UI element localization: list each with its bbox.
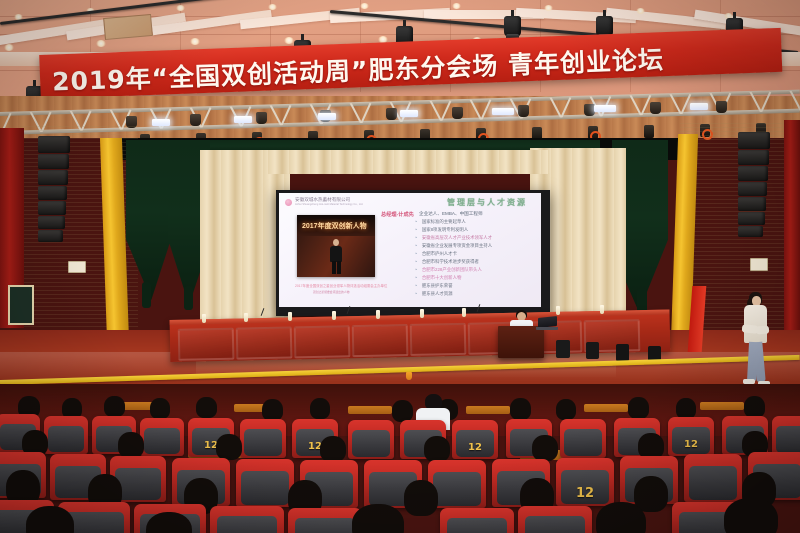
slide-bullet-text: 企业达人、EMBA、中国工程师: [419, 211, 483, 216]
bullet-marker-icon: ‣: [415, 243, 418, 249]
stage-monitor-speaker: [556, 340, 570, 358]
slide-video-headline: 2017年度双创新人物: [302, 221, 367, 231]
audience-person: [118, 432, 144, 458]
company-logo-subtext: Anhui Shuangcheng Hot-melt Material Tech…: [295, 203, 363, 206]
water-bottle: [556, 306, 560, 315]
audience-person: [104, 396, 125, 417]
slide-bullet-text: 肥东县人才资源: [422, 291, 453, 296]
projection-screen: 安徽双城水热蓄材有限公司 Anhui Shuangcheng Hot-melt …: [279, 193, 541, 307]
seat-number: 12: [556, 486, 614, 501]
slide-bullet: ‣ 国家标准的主要起草人: [415, 219, 466, 225]
auditorium-seat[interactable]: 12: [452, 420, 498, 459]
lectern: [498, 326, 544, 358]
auditorium-seat[interactable]: [210, 506, 284, 533]
audience-person: [510, 398, 531, 420]
seat-number: 12: [668, 439, 714, 450]
slide-video-caption: 2017年度全国双创之星创业领军人物评选活动组委会主办单位: [295, 283, 387, 288]
slide-bullet: ‣ 合肥市228产业创新团队带头人: [415, 267, 482, 273]
slide-bullet-text: 合肥市科学技术进步奖获得者: [422, 259, 479, 264]
left-wall-plate: [68, 261, 86, 273]
water-bottle: [420, 309, 424, 318]
slide-bullet-text: 安徽省企业发展专项资金项目主持人: [422, 243, 492, 248]
auditorium-seat[interactable]: [44, 416, 88, 454]
audience-person-foreground: [26, 506, 74, 533]
audience-person: [196, 397, 217, 418]
audience-person: [532, 435, 558, 461]
audience-person: [310, 398, 330, 419]
seat-number: 12: [452, 442, 498, 453]
auditorium-seat[interactable]: 12: [556, 458, 614, 506]
laptop: [536, 317, 558, 330]
audience-person-foreground: [352, 504, 404, 533]
audience-person-foreground: [596, 502, 646, 533]
slide-bullet: ‣ 肥东县护东荣誉: [415, 283, 453, 289]
audience-desk: [466, 406, 510, 414]
slide-bullet-text: 合肥市228产业创新团队带头人: [422, 267, 482, 272]
left-green-curtain-tie-2: [184, 286, 193, 310]
led-bar-light: [400, 110, 418, 117]
led-bar-light: [690, 103, 708, 110]
audience-person-foreground: [146, 512, 192, 533]
orange-cup: [406, 372, 412, 380]
slide-bullet: 企业达人、EMBA、中国工程师: [419, 211, 483, 217]
bullet-marker-icon: ‣: [415, 219, 418, 225]
bullet-marker-icon: ‣: [415, 267, 418, 273]
audience-person: [150, 398, 170, 419]
bullet-marker-icon: ‣: [415, 235, 418, 241]
slide-bullet-text: 安徽省高层次人才产业技术领军人才: [422, 235, 492, 240]
slide-bullet-text: 国家标准的主要起草人: [422, 219, 466, 224]
auditorium-seat[interactable]: [140, 418, 184, 456]
audience-person: [262, 399, 283, 421]
auditorium-seat[interactable]: 12: [668, 417, 714, 456]
bullet-marker-icon: ‣: [415, 291, 418, 297]
right-line-array-speaker: [738, 132, 770, 236]
auditorium-seat[interactable]: [684, 454, 742, 502]
slide-bullet-text: 合肥市十大创新人物: [422, 275, 462, 280]
audience-person: [628, 397, 649, 419]
bullet-marker-icon: ‣: [415, 259, 418, 265]
water-bottle: [376, 310, 380, 319]
led-bar-light: [152, 119, 170, 126]
projection-screen-frame: 安徽双城水热蓄材有限公司 Anhui Shuangcheng Hot-melt …: [276, 190, 550, 316]
slide-bullet: ‣ 合肥市十大创新人物: [415, 275, 461, 281]
audience-person: [424, 436, 450, 462]
bullet-marker-icon: ‣: [415, 251, 418, 257]
slide-video-person: [329, 239, 343, 275]
audience-person: [320, 436, 346, 462]
audience-person: [556, 399, 576, 420]
bullet-marker-icon: ‣: [415, 227, 418, 233]
audience-desk: [584, 404, 628, 412]
water-bottle: [332, 311, 336, 320]
right-red-curtain: [784, 120, 800, 330]
stage-monitor-speaker: [616, 344, 629, 361]
audience-desk: [348, 406, 392, 414]
slide-bullet: ‣ 国家8项发明专利发明人: [415, 227, 468, 233]
slide-bullet: ‣ 肥东县人才资源: [415, 291, 453, 297]
slide-bullet-text: 肥东县护东荣誉: [422, 283, 453, 288]
led-bar-light: [594, 105, 616, 112]
led-bar-light: [492, 108, 514, 115]
slide-bullet: ‣ 合肥市庐州人才卡: [415, 251, 457, 257]
auditorium-seat[interactable]: [236, 459, 294, 507]
slide-video-caption-2: 双创之星组委会评选出的人物: [313, 290, 349, 294]
left-wall-window: [8, 285, 34, 325]
auditorium-seat[interactable]: [348, 420, 394, 459]
slide-bullet: ‣ 安徽省高层次人才产业技术领军人才: [415, 235, 492, 241]
bullet-marker-icon: ‣: [415, 275, 418, 281]
slide-video: 2017年度双创新人物: [297, 215, 375, 277]
water-bottle: [462, 308, 466, 317]
right-wall-plate: [750, 258, 768, 271]
auditorium-seat[interactable]: [440, 508, 514, 533]
bullet-marker-icon: ‣: [415, 283, 418, 289]
ceiling-vent: [103, 14, 153, 40]
slide-bullet: ‣ 合肥市科学技术进步奖获得者: [415, 259, 479, 265]
auditorium-seat[interactable]: [518, 506, 592, 533]
audience-person: [404, 480, 438, 516]
auditorium-photo: 2019年“全国双创活动周”肥东分会场 青年创业论坛: [0, 0, 800, 533]
slide-bullet-text: 合肥市庐州人才卡: [422, 251, 457, 256]
auditorium-seat[interactable]: [288, 508, 362, 533]
audience-person: [216, 434, 242, 460]
slide-title: 管理层与人才资源: [447, 197, 527, 208]
center-top-curtain: [268, 150, 548, 174]
left-green-curtain-tie: [142, 282, 151, 308]
led-bar-light: [318, 113, 336, 120]
audience-person: [744, 396, 765, 418]
audience-person: [676, 398, 696, 419]
walking-woman: [740, 292, 770, 388]
audience-person-foreground: [724, 498, 778, 533]
water-bottle: [288, 312, 292, 321]
auditorium-seat[interactable]: [772, 416, 800, 455]
stage-monitor-speaker: [586, 342, 599, 359]
water-bottle: [244, 313, 248, 322]
led-bar-light: [234, 116, 252, 123]
audience-desk: [700, 402, 744, 410]
left-line-array-speaker: [38, 136, 70, 242]
auditorium-seat[interactable]: [240, 419, 286, 458]
water-bottle: [600, 305, 604, 314]
slide-bullet: ‣ 安徽省企业发展专项资金项目主持人: [415, 243, 492, 249]
slide-section-heading: 总经理-计成先: [381, 211, 414, 218]
water-bottle: [202, 314, 206, 323]
company-logo-mark: [285, 199, 292, 206]
audience-person: [392, 400, 413, 422]
slide-bullet-text: 国家8项发明专利发明人: [422, 227, 468, 232]
auditorium-seat[interactable]: [560, 419, 606, 458]
